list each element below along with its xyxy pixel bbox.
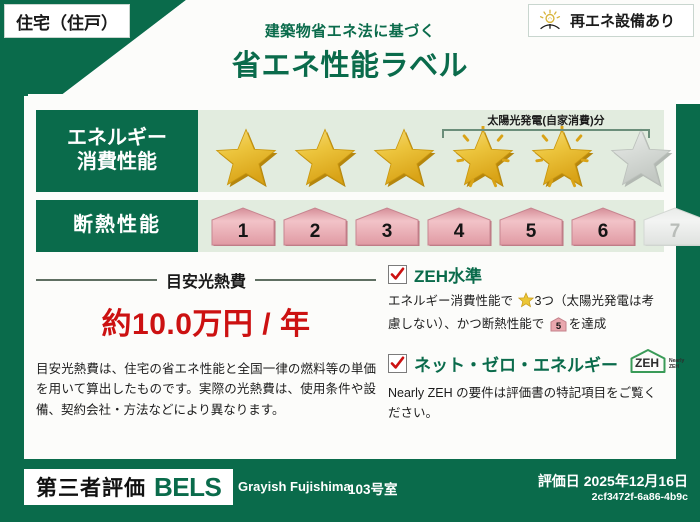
insulation-badge-filled: 6 <box>568 206 638 246</box>
label-footer: 第三者評価 BELS Grayish Fujishima 103号室 評価日 2… <box>0 459 700 522</box>
svg-text:ZEH: ZEH <box>669 364 679 370</box>
insulation-key-label: 断熱性能 <box>73 214 161 238</box>
evaluation-date-label: 評価日 <box>538 473 580 489</box>
check-net-zero-head: ネット・ゼロ・エネルギー ZEH Nearly ZEH <box>388 348 664 379</box>
evaluation-id: 2cf3472f-6a86-4b9c <box>592 491 688 503</box>
energy-performance-value: 太陽光発電(自家消費)分 <box>198 110 664 192</box>
zeh-standard-text-3: を達成 <box>569 317 607 331</box>
bels-en-label: BELS <box>154 472 221 503</box>
zeh-standard-text-1: エネルギー消費性能で <box>388 294 513 308</box>
solar-annotation-label: 太陽光発電(自家消費)分 <box>434 112 658 128</box>
solar-bracket <box>442 129 650 138</box>
energy-key-line2: 消費性能 <box>77 151 157 175</box>
svg-text:5: 5 <box>556 321 562 332</box>
insulation-badge-filled: 2 <box>280 206 350 246</box>
building-name: Grayish Fujishima <box>238 479 351 494</box>
star-filled-icon <box>366 126 442 188</box>
check-zeh-standard: ZEH水準 エネルギー消費性能で 3つ（太陽光発電は考慮しない）、かつ断熱性能で… <box>388 262 664 338</box>
room-number: 103号室 <box>348 478 398 498</box>
insulation-performance-row: 断熱性能 1234567 <box>36 200 664 252</box>
svg-text:ZEH: ZEH <box>635 356 659 370</box>
insulation-badge-filled: 4 <box>424 206 494 246</box>
insulation-badge-label: 5 <box>526 221 537 243</box>
insulation-badge-filled: 3 <box>352 206 422 246</box>
energy-performance-key: エネルギー 消費性能 <box>36 110 198 192</box>
lower-section: 目安光熱費 約10.0万円 / 年 目安光熱費は、住宅の省エネ性能と全国一律の燃… <box>36 262 664 448</box>
energy-performance-row: エネルギー 消費性能 太陽光発電(自家消費)分 <box>36 110 664 192</box>
insulation-performance-value: 1234567 <box>198 200 664 252</box>
zeh-house-logo-icon: ZEH Nearly ZEH <box>628 348 686 379</box>
inline-insulation-badge: 5 <box>546 321 566 335</box>
insulation-performance-key: 断熱性能 <box>36 200 198 252</box>
net-zero-body: Nearly ZEH の要件は評価書の特記項目をご覧ください。 <box>388 383 664 423</box>
utility-cost-note: 目安光熱費は、住宅の省エネ性能と全国一律の燃料等の単価を用いて算出したものです。… <box>36 359 376 420</box>
solar-generation-annotation: 太陽光発電(自家消費)分 <box>434 112 658 138</box>
renewable-energy-badge: ◠ 再エネ設備あり <box>528 4 694 37</box>
insulation-level-badges: 1234567 <box>208 206 700 246</box>
building-type-chip: 住宅（住戸） <box>4 4 130 38</box>
net-zero-checkbox[interactable] <box>388 354 407 373</box>
insulation-badge-label: 1 <box>238 221 249 243</box>
evaluation-date: 評価日 2025年12月16日 <box>538 471 688 491</box>
star-filled-icon <box>208 126 284 188</box>
insulation-badge-filled: 5 <box>496 206 566 246</box>
check-net-zero-energy: ネット・ゼロ・エネルギー ZEH Nearly ZEH Nearly ZEH の… <box>388 348 664 423</box>
utility-cost-label: 目安光熱費 <box>166 268 246 292</box>
rule-right <box>255 279 376 281</box>
rule-left <box>36 279 157 281</box>
zeh-standard-checkbox[interactable] <box>388 265 407 284</box>
renewable-energy-label: 再エネ設備あり <box>570 10 675 31</box>
insulation-badge-label: 4 <box>454 221 465 243</box>
star-filled-icon <box>287 126 363 188</box>
zeh-standard-body: エネルギー消費性能で 3つ（太陽光発電は考慮しない）、かつ断熱性能で 5 を達成 <box>388 291 664 338</box>
building-type-label: 住宅（住戸） <box>16 9 118 34</box>
insulation-badge-empty: 7 <box>640 206 700 246</box>
evaluation-date-value: 2025年12月16日 <box>584 473 688 489</box>
utility-cost-column: 目安光熱費 約10.0万円 / 年 目安光熱費は、住宅の省エネ性能と全国一律の燃… <box>36 262 376 420</box>
utility-cost-value: 約10.0万円 / 年 <box>36 299 376 343</box>
energy-performance-label: 建築物省エネ法に基づく 省エネ性能ラベル 住宅（住戸） ◠ 再エネ設備あ <box>0 0 700 522</box>
bels-logo-box: 第三者評価 BELS <box>24 469 233 505</box>
utility-cost-heading: 目安光熱費 <box>36 268 376 292</box>
insulation-badge-label: 7 <box>670 221 681 243</box>
insulation-badge-label: 2 <box>310 221 321 243</box>
insulation-badge-label: 3 <box>382 221 393 243</box>
net-zero-title: ネット・ゼロ・エネルギー <box>414 351 618 376</box>
check-zeh-standard-head: ZEH水準 <box>388 262 664 287</box>
insulation-badge-label: 6 <box>598 221 609 243</box>
bels-jp-label: 第三者評価 <box>36 472 146 502</box>
certification-column: ZEH水準 エネルギー消費性能で 3つ（太陽光発電は考慮しない）、かつ断熱性能で… <box>388 262 664 433</box>
label-body: エネルギー 消費性能 太陽光発電(自家消費)分 断熱性能 1234567 <box>24 96 676 459</box>
insulation-badge-filled: 1 <box>208 206 278 246</box>
sun-icon: ◠ <box>537 9 563 33</box>
inline-star-icon <box>514 297 533 311</box>
zeh-standard-title: ZEH水準 <box>414 262 482 287</box>
energy-key-line1: エネルギー <box>67 127 167 151</box>
